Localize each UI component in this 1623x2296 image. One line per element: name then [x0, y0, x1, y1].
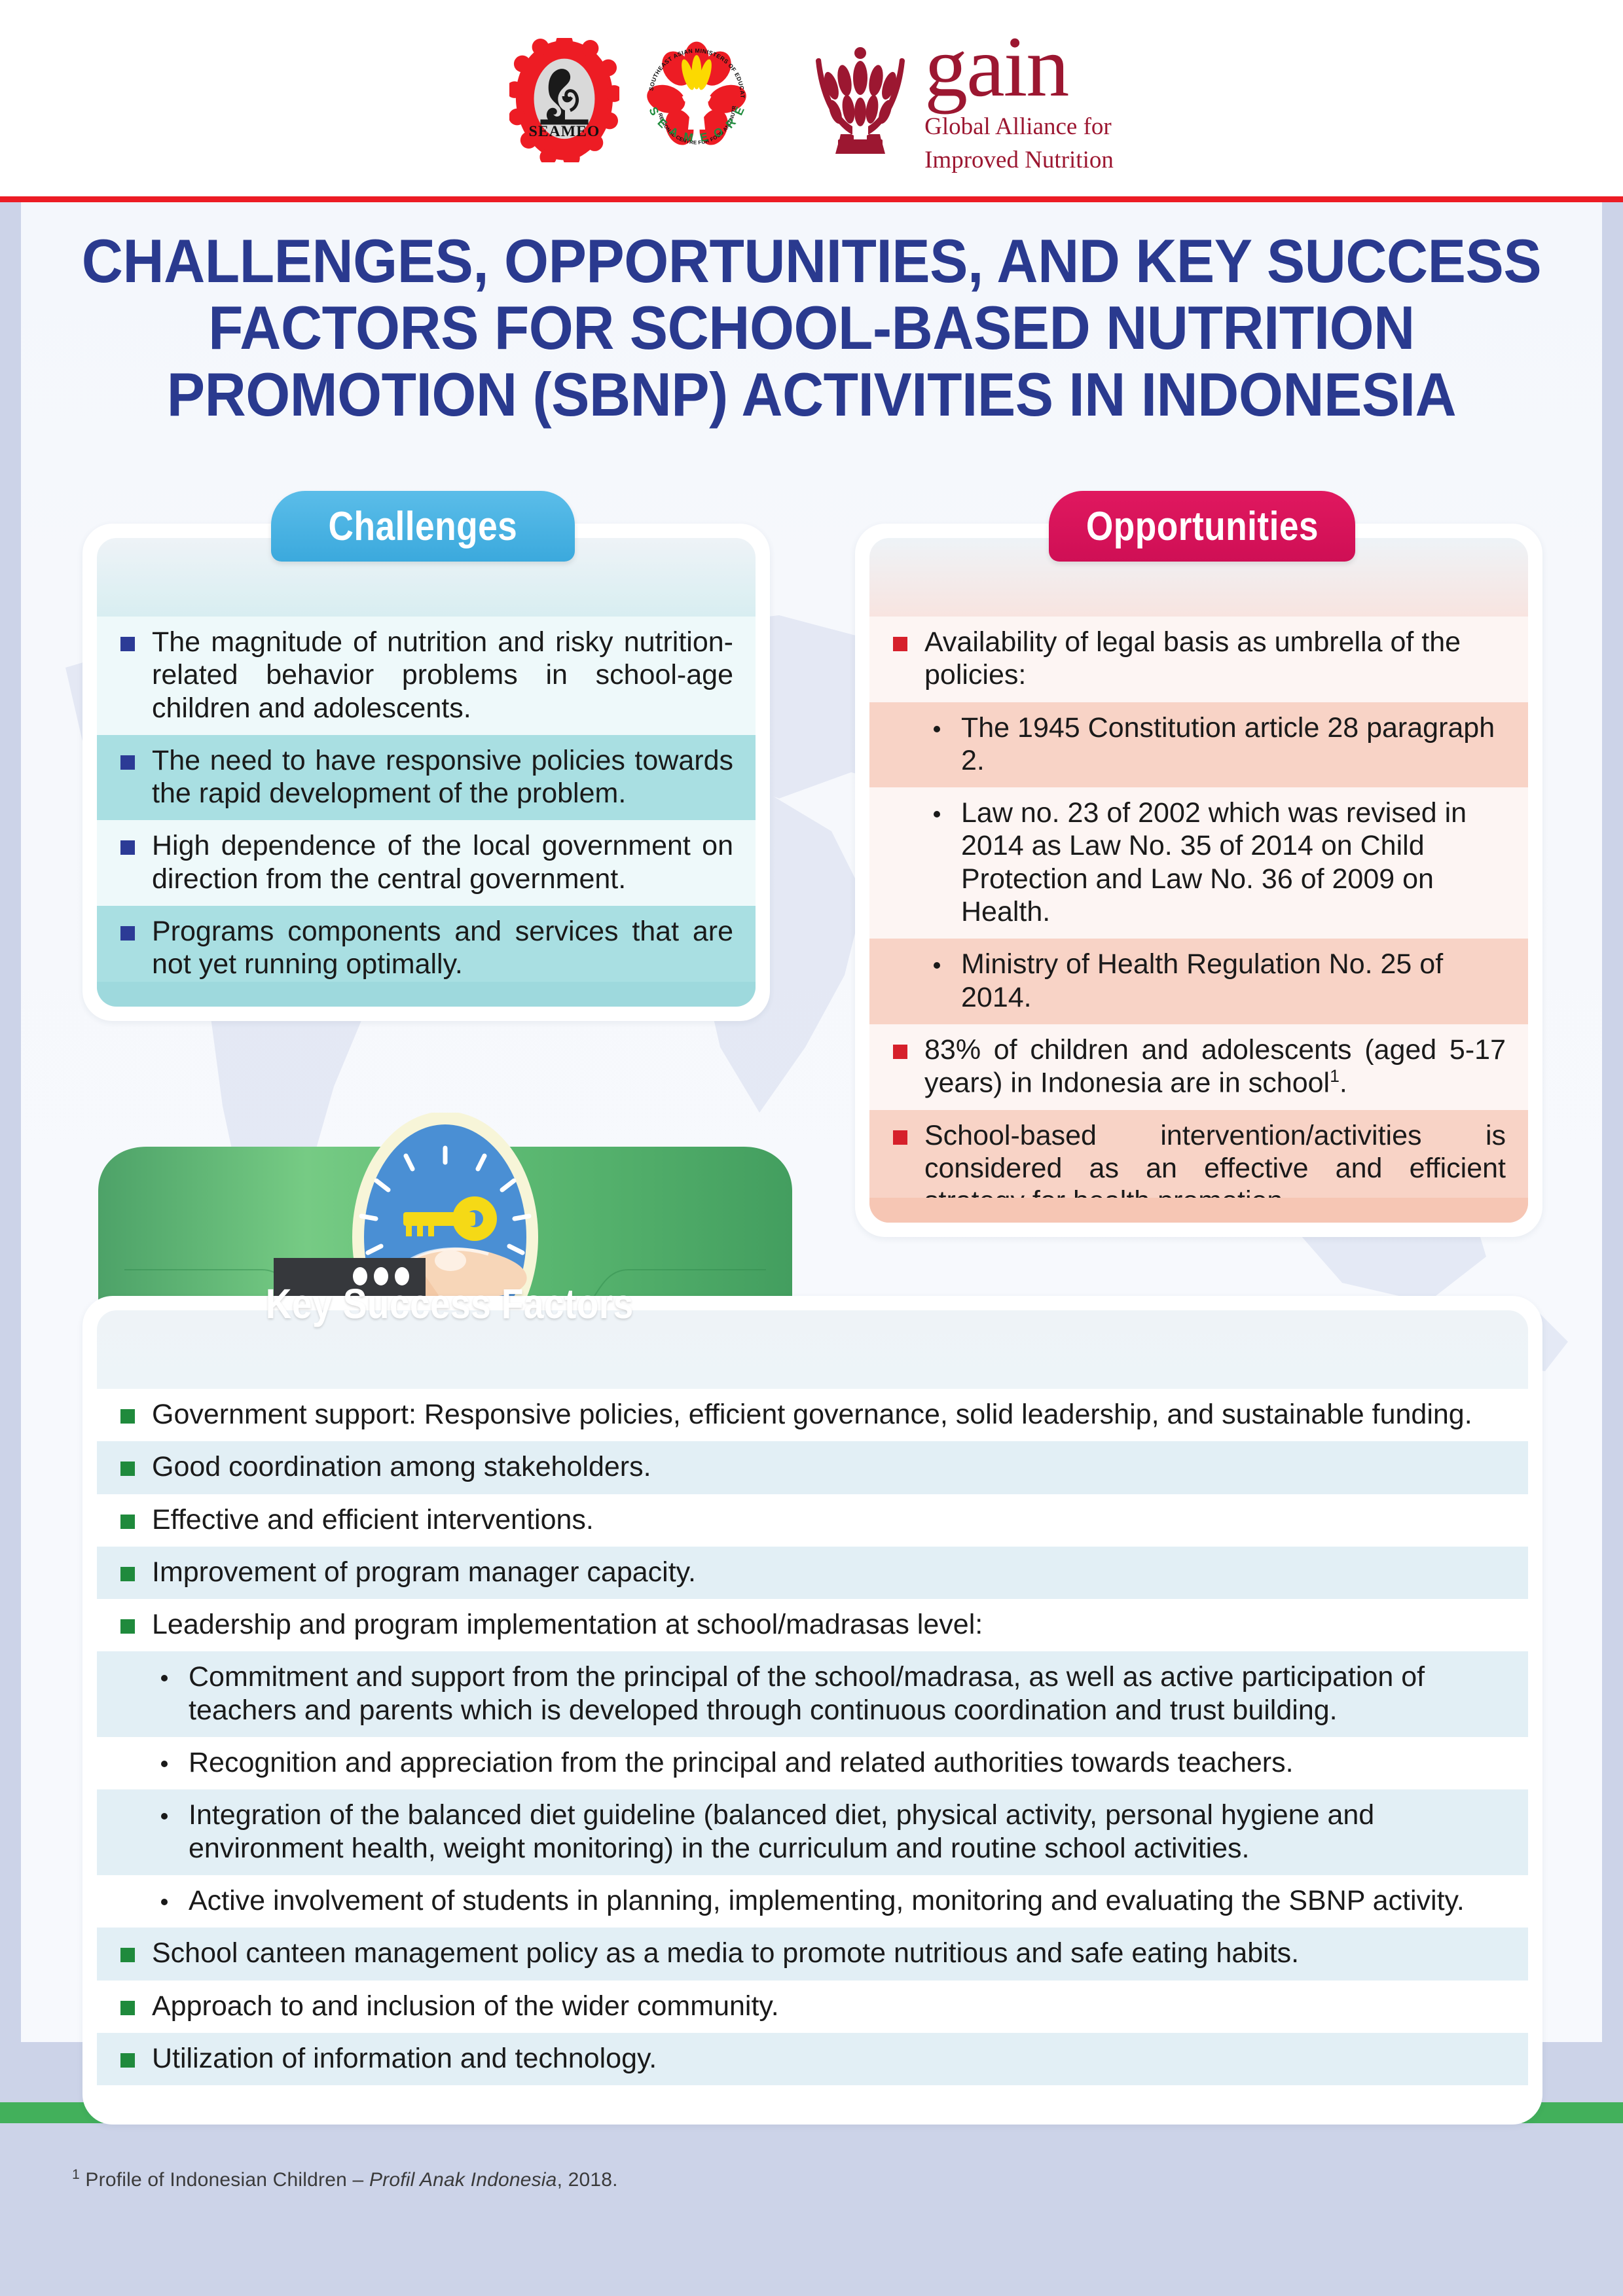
page-frame-right — [1602, 200, 1623, 2296]
footnote-marker: 1 — [1330, 1066, 1340, 1086]
wheat-basket-icon — [809, 44, 911, 156]
list-item-text: Programs components and services that ar… — [152, 915, 733, 981]
key-success-factors-badge-label: Key Success Factors — [266, 1280, 634, 1328]
square-bullet-icon — [120, 2053, 135, 2068]
list-item-text: Ministry of Health Regulation No. 25 of … — [961, 948, 1506, 1014]
seameo-logo: SEAMEO — [509, 38, 619, 162]
gain-tagline-line2: Improved Nutrition — [924, 145, 1114, 175]
list-item-text: School canteen management policy as a me… — [152, 1937, 1506, 1969]
square-bullet-icon — [120, 1567, 135, 1581]
dot-bullet-icon — [934, 962, 940, 969]
list-item-text: Availability of legal basis as umbrella … — [924, 626, 1506, 692]
square-bullet-icon — [120, 1409, 135, 1424]
square-bullet-icon — [120, 1515, 135, 1529]
list-item: The need to have responsive policies tow… — [97, 735, 756, 821]
list-item-text: Recognition and appreciation from the pr… — [189, 1746, 1506, 1779]
list-item-text: Effective and efficient interventions. — [152, 1503, 1506, 1536]
title-line-1: CHALLENGES, OPPORTUNITIES, AND KEY SUCCE… — [57, 228, 1566, 295]
list-item: The magnitude of nutrition and risky nut… — [97, 617, 756, 735]
square-bullet-icon — [893, 1130, 907, 1145]
challenges-panel: The magnitude of nutrition and risky nut… — [97, 538, 756, 1007]
header-red-rule — [0, 196, 1623, 202]
title-line-3: PROMOTION (SBNP) ACTIVITIES IN INDONESIA — [57, 361, 1566, 428]
list-item: Good coordination among stakeholders. — [97, 1441, 1528, 1494]
dot-bullet-icon — [161, 1761, 168, 1767]
footnote: 1 Profile of Indonesian Children – Profi… — [72, 2167, 618, 2191]
list-item-text: Approach to and inclusion of the wider c… — [152, 1990, 1506, 2022]
list-item: Leadership and program implementation at… — [97, 1599, 1528, 1651]
dot-bullet-icon — [161, 1675, 168, 1681]
footnote-marker: 1 — [72, 2167, 80, 2182]
square-bullet-icon — [120, 755, 135, 770]
challenges-badge-label: Challenges — [329, 503, 518, 550]
title-line-2: FACTORS FOR SCHOOL-BASED NUTRITION — [57, 295, 1566, 361]
list-item: Law no. 23 of 2002 which was revised in … — [869, 787, 1528, 939]
list-item-text: 83% of children and adolescents (aged 5-… — [924, 1033, 1506, 1100]
square-bullet-icon — [120, 1619, 135, 1634]
square-bullet-icon — [893, 637, 907, 651]
footnote-text-before: Profile of Indonesian Children – — [80, 2169, 369, 2191]
square-bullet-icon — [120, 926, 135, 941]
footnote-italic-title: Profil Anak Indonesia — [369, 2169, 557, 2191]
square-bullet-icon — [120, 1948, 135, 1962]
list-item-text: Law no. 23 of 2002 which was revised in … — [961, 797, 1506, 928]
list-item: Approach to and inclusion of the wider c… — [97, 1981, 1528, 2033]
page-title: CHALLENGES, OPPORTUNITIES, AND KEY SUCCE… — [57, 228, 1566, 428]
list-item: Programs components and services that ar… — [97, 906, 756, 992]
list-item-main: 83% of children and adolescents (aged 5-… — [924, 1034, 1506, 1099]
dot-bullet-icon — [934, 726, 940, 732]
square-bullet-icon — [120, 1462, 135, 1476]
square-bullet-icon — [120, 637, 135, 651]
list-item-text: Active involvement of students in planni… — [189, 1884, 1506, 1917]
list-item-text: The 1945 Constitution article 28 paragra… — [961, 711, 1506, 778]
list-item-text: Government support: Responsive policies,… — [152, 1398, 1506, 1431]
challenges-panel-foot — [97, 982, 756, 1007]
list-item: Ministry of Health Regulation No. 25 of … — [869, 939, 1528, 1024]
gain-wordmark: gain — [924, 26, 1114, 107]
list-item-text: High dependence of the local government … — [152, 829, 733, 895]
list-item-text: Commitment and support from the principa… — [189, 1660, 1506, 1727]
footnote-text-after: , 2018. — [557, 2169, 618, 2191]
list-item-text: The need to have responsive policies tow… — [152, 744, 733, 810]
list-item: Recognition and appreciation from the pr… — [97, 1737, 1528, 1789]
logo-header: SEAMEO — [0, 0, 1623, 200]
list-item: Effective and efficient interventions. — [97, 1494, 1528, 1547]
list-item: The 1945 Constitution article 28 paragra… — [869, 702, 1528, 788]
opportunities-panel: Availability of legal basis as umbrella … — [869, 538, 1528, 1223]
ksf-panel-foot — [97, 2085, 1528, 2110]
list-item-text: Utilization of information and technolog… — [152, 2042, 1506, 2075]
list-item: Active involvement of students in planni… — [97, 1875, 1528, 1928]
square-bullet-icon — [893, 1045, 907, 1059]
challenges-badge: Challenges — [271, 491, 575, 562]
list-item: Integration of the balanced diet guideli… — [97, 1789, 1528, 1875]
square-bullet-icon — [120, 2001, 135, 2015]
key-success-factors-badge: Key Success Factors — [210, 1268, 629, 1339]
list-item-text: Integration of the balanced diet guideli… — [189, 1799, 1506, 1865]
list-item: 83% of children and adolescents (aged 5-… — [869, 1024, 1528, 1110]
dot-bullet-icon — [161, 1899, 168, 1905]
list-item: High dependence of the local government … — [97, 820, 756, 906]
list-item: Commitment and support from the principa… — [97, 1651, 1528, 1737]
list-item-text: Good coordination among stakeholders. — [152, 1450, 1506, 1483]
gain-tagline-line1: Global Alliance for — [924, 112, 1114, 141]
square-bullet-icon — [120, 840, 135, 855]
list-item: School canteen management policy as a me… — [97, 1928, 1528, 1980]
dot-bullet-icon — [161, 1813, 168, 1820]
page-frame-left — [0, 200, 21, 2296]
list-item: Availability of legal basis as umbrella … — [869, 617, 1528, 702]
key-success-factors-panel: Government support: Responsive policies,… — [97, 1310, 1528, 2110]
list-item: Government support: Responsive policies,… — [97, 1389, 1528, 1441]
seameo-recfon-logo: SOUTHEAST ASIAN MINISTERS OF EDUCATION O… — [642, 38, 752, 162]
list-item-tail: . — [1340, 1067, 1347, 1099]
list-item: Improvement of program manager capacity. — [97, 1547, 1528, 1599]
dot-bullet-icon — [934, 811, 940, 817]
list-item-text: Leadership and program implementation at… — [152, 1608, 1506, 1641]
list-item: Utilization of information and technolog… — [97, 2033, 1528, 2085]
svg-text:SEAMEO: SEAMEO — [529, 123, 600, 140]
opportunities-panel-foot — [869, 1198, 1528, 1223]
opportunities-badge: Opportunities — [1049, 491, 1355, 562]
list-item-text: Improvement of program manager capacity. — [152, 1556, 1506, 1588]
poster-page: SEAMEO — [0, 0, 1623, 2296]
list-item-text: The magnitude of nutrition and risky nut… — [152, 626, 733, 725]
opportunities-badge-label: Opportunities — [1085, 503, 1318, 550]
gain-logo: gain Global Alliance for Improved Nutrit… — [809, 26, 1114, 175]
